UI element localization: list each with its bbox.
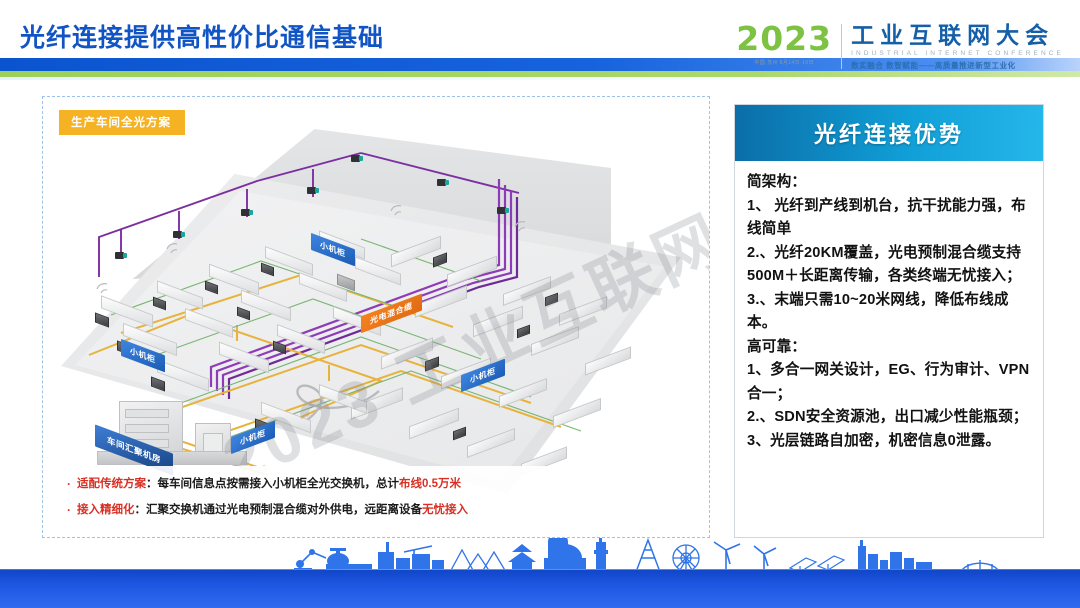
city-icon bbox=[548, 538, 568, 572]
logo-year: 2023 bbox=[736, 22, 832, 56]
camera-icon bbox=[497, 207, 506, 214]
camera-icon bbox=[173, 231, 182, 238]
logo-name-block: 工业互联网大会 INDUSTRIAL INTERNET CONFERENCE 数… bbox=[851, 22, 1064, 71]
server-unit bbox=[125, 409, 169, 418]
bullet-item: · 接入精细化：汇聚交换机通过光电预制混合缆对外供电，远距离设备无忧接入 bbox=[67, 500, 695, 521]
bullet-marker: · bbox=[67, 474, 71, 494]
eiffel-icon bbox=[636, 540, 660, 572]
logo-slogan: 数实融合 数智赋能——高质量推进新型工业化 bbox=[851, 60, 1064, 71]
water-band bbox=[0, 570, 1080, 608]
camera-icon bbox=[437, 179, 446, 186]
bullet-item: · 适配传统方案：每车间信息点按需接入小机柜全光交换机，总计布线0.5万米 bbox=[67, 474, 695, 495]
panel-line: 高可靠： bbox=[747, 336, 1033, 360]
bullet-marker: · bbox=[67, 500, 71, 520]
server-unit bbox=[125, 424, 169, 433]
conference-logo: 2023 中国·苏州 8月14日-16日 工业互联网大会 INDUSTRIAL … bbox=[736, 22, 1064, 71]
logo-divider bbox=[841, 24, 842, 69]
logo-name-en: INDUSTRIAL INTERNET CONFERENCE bbox=[851, 50, 1064, 57]
tower-icon bbox=[594, 538, 608, 572]
camera-icon bbox=[351, 155, 360, 162]
panel-line: 2.、光纤20KM覆盖，光电预制混合缆支持500M＋长距离传输，各类终端无忧接入… bbox=[747, 242, 1033, 289]
windmill-icon bbox=[714, 542, 776, 572]
bullet-highlight: 布线0.5万米 bbox=[399, 478, 461, 490]
panel-line: 1、多合一网关设计，EG、行为审计、VPN合一； bbox=[747, 359, 1033, 406]
skyline-silhouettes bbox=[0, 538, 1080, 572]
panel-line: 2.、SDN安全资源池，出口减少性能瓶颈； bbox=[747, 406, 1033, 430]
bullet-list: · 适配传统方案：每车间信息点按需接入小机柜全光交换机，总计布线0.5万米 · … bbox=[53, 466, 701, 529]
panel-line: 3、光层链路自加密，机密信息0泄露。 bbox=[747, 430, 1033, 454]
bullet-body: 每车间信息点按需接入小机柜全光交换机，总计 bbox=[158, 478, 400, 490]
ferris-wheel-icon bbox=[673, 545, 699, 571]
bullet-highlight: 无忧接入 bbox=[422, 504, 468, 516]
bullet-body: 汇聚交换机通过光电预制混合缆对外供电，远距离设备 bbox=[146, 504, 422, 516]
advantages-panel: 光纤连接优势 简架构： 1、 光纤到产线到机台，抗干扰能力强，布线简单 2.、光… bbox=[734, 104, 1044, 538]
page-title: 光纤连接提供高性价比通信基础 bbox=[20, 18, 384, 54]
camera-icon bbox=[115, 252, 124, 259]
panel-title: 光纤连接优势 bbox=[814, 117, 964, 149]
factory-diagram: 生产车间全光方案 bbox=[42, 96, 710, 538]
panel-line: 3.、末端只需10~20米网线，降低布线成本。 bbox=[747, 289, 1033, 336]
slide-root: 光纤连接提供高性价比通信基础 2023 中国·苏州 8月14日-16日 工业互联… bbox=[0, 0, 1080, 608]
panel-header: 光纤连接优势 bbox=[735, 105, 1043, 161]
bullet-sep: ： bbox=[146, 478, 158, 490]
logo-year-subtitle: 中国·苏州 8月14日-16日 bbox=[736, 59, 832, 66]
factory-room: 小机柜 小机柜 小机柜 小机柜 光电混合缆 车间汇聚机房 bbox=[61, 119, 701, 489]
panel-body: 简架构： 1、 光纤到产线到机台，抗干扰能力强，布线简单 2.、光纤20KM覆盖… bbox=[735, 161, 1043, 461]
factory-icon bbox=[378, 542, 444, 572]
city-icon bbox=[858, 540, 932, 572]
panel-line: 1、 光纤到产线到机台，抗干扰能力强，布线简单 bbox=[747, 195, 1033, 242]
panel-line: 简架构： bbox=[747, 171, 1033, 195]
footer-skyline bbox=[0, 538, 1080, 608]
diagram-tag: 生产车间全光方案 bbox=[59, 110, 185, 135]
bullet-title: 接入精细化 bbox=[77, 504, 135, 516]
logo-name-cn: 工业互联网大会 bbox=[851, 22, 1064, 48]
camera-icon bbox=[307, 187, 316, 194]
camera-icon bbox=[241, 209, 250, 216]
logo-year-block: 2023 中国·苏州 8月14日-16日 bbox=[736, 22, 841, 66]
header-light-rule bbox=[0, 77, 1080, 80]
bullet-sep: ： bbox=[135, 504, 147, 516]
bullet-title: 适配传统方案 bbox=[77, 478, 146, 490]
